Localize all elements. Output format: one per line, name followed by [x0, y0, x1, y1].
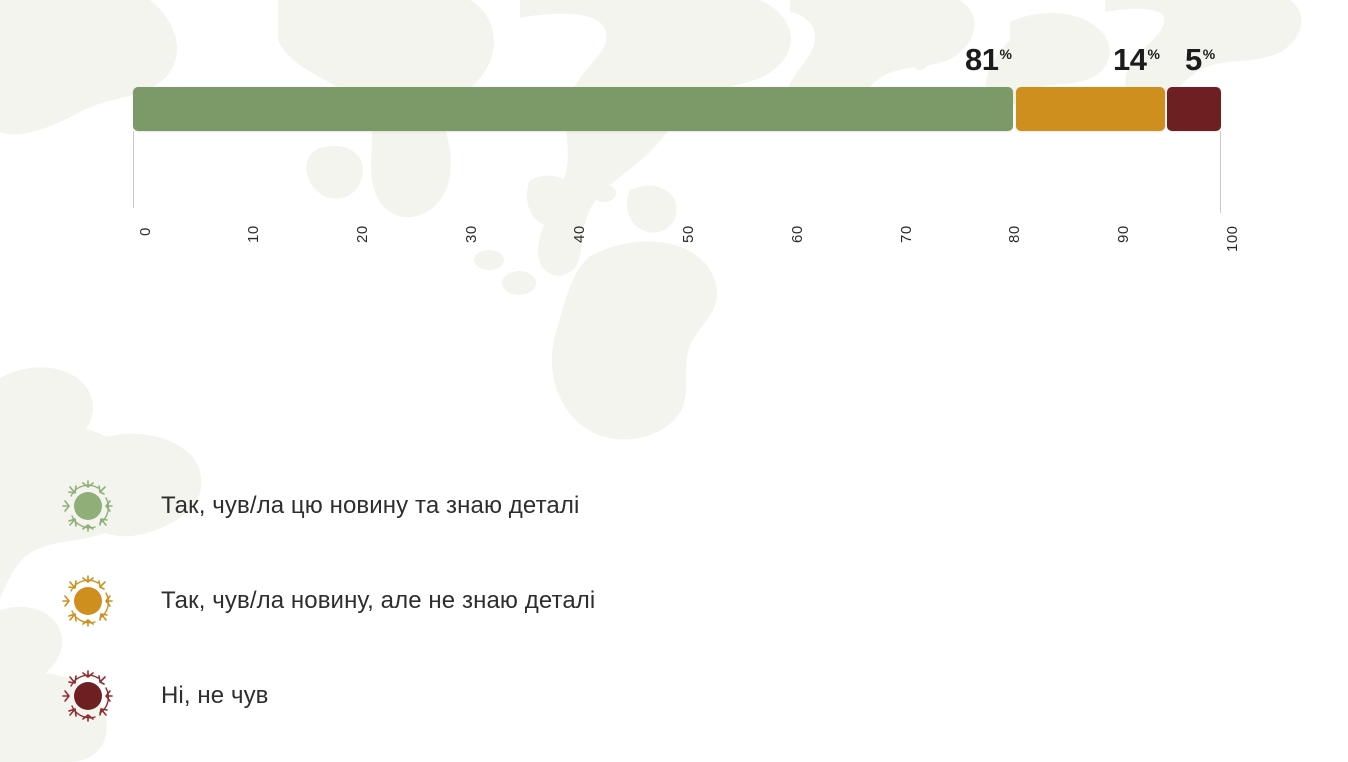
axis-tick-60: 60 — [790, 225, 805, 243]
virus-body — [74, 492, 102, 520]
bar-segment-heard-and-knows-details[interactable] — [133, 87, 1013, 131]
virus-body — [74, 587, 102, 615]
value-label-segment-3: 5% — [1185, 44, 1215, 75]
axis-tick-30: 30 — [464, 225, 479, 243]
axis-tick-0: 0 — [138, 227, 153, 236]
axis-gridline-end — [1220, 131, 1221, 213]
axis-tick-90: 90 — [1116, 225, 1131, 243]
percent-symbol: % — [1203, 46, 1215, 62]
value-number: 5 — [1185, 42, 1202, 77]
legend-item-not-heard[interactable]: Ні, не чув — [62, 648, 595, 743]
value-number: 81 — [965, 42, 998, 77]
virus-icon — [62, 575, 114, 627]
value-label-segment-1: 81% — [965, 44, 1012, 75]
axis-gridline-start — [133, 131, 134, 208]
bar-segment-not-heard[interactable] — [1167, 87, 1221, 131]
value-number: 14 — [1113, 42, 1146, 77]
virus-icon — [62, 670, 114, 722]
virus-icon — [62, 480, 114, 532]
axis-tick-10: 10 — [246, 225, 261, 243]
chart-legend: Так, чув/ла цю новину та знаю деталі — [62, 458, 595, 743]
axis-tick-40: 40 — [572, 225, 587, 243]
legend-item-heard-and-knows-details[interactable]: Так, чув/ла цю новину та знаю деталі — [62, 458, 595, 553]
legend-item-label: Так, чув/ла цю новину та знаю деталі — [161, 492, 579, 520]
legend-item-label: Так, чув/ла новину, але не знаю деталі — [161, 587, 595, 615]
bar-segment-heard-no-details[interactable] — [1016, 87, 1165, 131]
percent-symbol: % — [999, 46, 1011, 62]
virus-body — [74, 682, 102, 710]
axis-tick-50: 50 — [681, 225, 696, 243]
axis-tick-100: 100 — [1225, 225, 1240, 252]
legend-item-label: Ні, не чув — [161, 682, 269, 710]
percent-symbol: % — [1147, 46, 1159, 62]
value-label-segment-2: 14% — [1113, 44, 1160, 75]
legend-item-heard-no-details[interactable]: Так, чув/ла новину, але не знаю деталі — [62, 553, 595, 648]
axis-tick-80: 80 — [1007, 225, 1022, 243]
axis-tick-20: 20 — [355, 225, 370, 243]
axis-tick-70: 70 — [899, 225, 914, 243]
